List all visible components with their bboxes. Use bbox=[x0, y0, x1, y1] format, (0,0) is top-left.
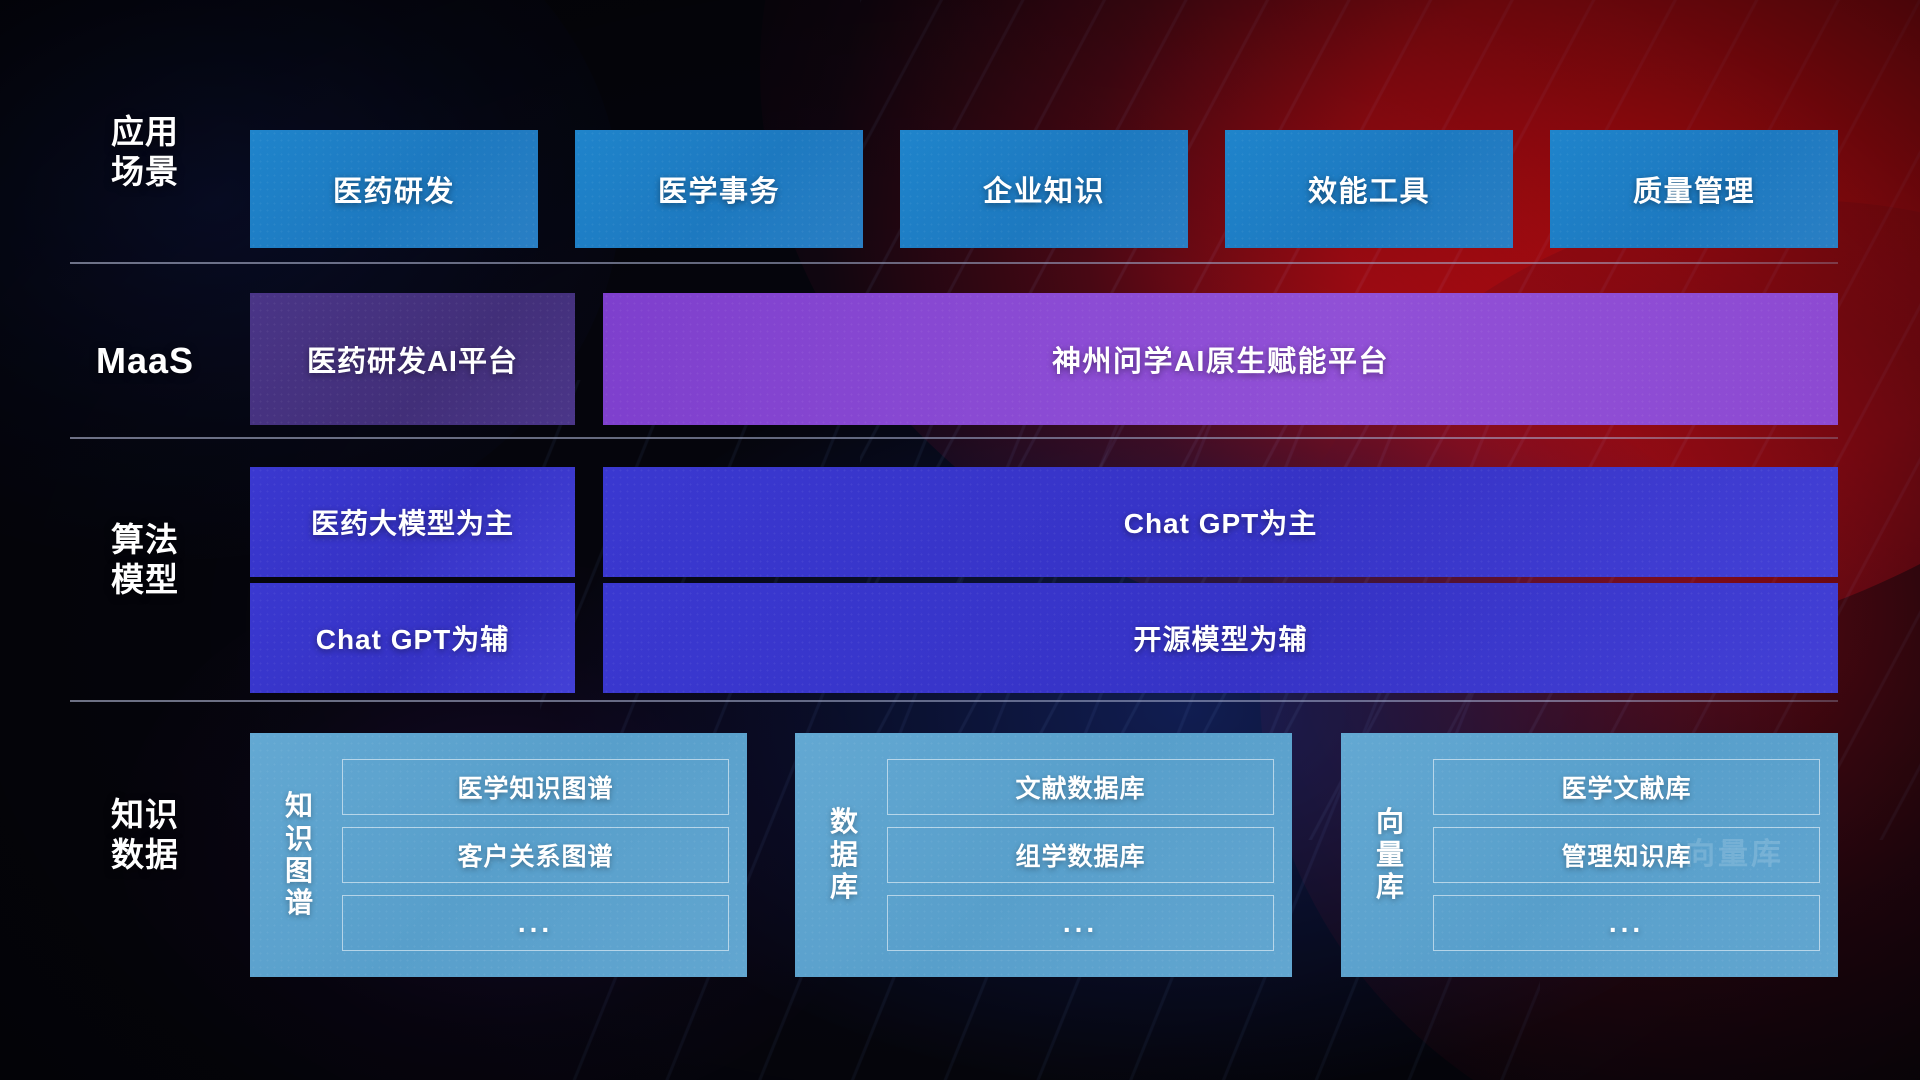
architecture-diagram: 应用 场景 医药研发 医学事务 企业知识 效能工具 质量管理 MaaS 医药研发… bbox=[0, 0, 1920, 1080]
knowledge-item[interactable]: 医学知识图谱 bbox=[342, 759, 729, 815]
maas-box-label: 神州问学AI原生赋能平台 bbox=[1052, 338, 1389, 380]
knowledge-item-more[interactable]: ... bbox=[887, 895, 1274, 951]
knowledge-item-list: 医学文献库 管理知识库 ... bbox=[1421, 759, 1820, 951]
knowledge-item[interactable]: 管理知识库 bbox=[1433, 827, 1820, 883]
row-label-text: MaaS bbox=[70, 339, 220, 383]
knowledge-item[interactable]: 文献数据库 bbox=[887, 759, 1274, 815]
app-box-label: 效能工具 bbox=[1308, 168, 1430, 210]
row-label-line-2: 场景 bbox=[70, 152, 220, 192]
algo-box-opensource-secondary[interactable]: 开源模型为辅 bbox=[603, 583, 1838, 693]
algo-box-label: 开源模型为辅 bbox=[1133, 618, 1307, 658]
row-label-line-2: 模型 bbox=[70, 560, 220, 600]
knowledge-group-vertical-label: 数据库 bbox=[813, 806, 875, 903]
knowledge-item[interactable]: 客户关系图谱 bbox=[342, 827, 729, 883]
app-box-label: 质量管理 bbox=[1633, 168, 1755, 210]
app-box-label: 医学事务 bbox=[658, 168, 780, 210]
algo-box-chatgpt-primary[interactable]: Chat GPT为主 bbox=[603, 467, 1838, 577]
algo-box-pharma-llm-primary[interactable]: 医药大模型为主 bbox=[250, 467, 575, 577]
divider-2 bbox=[70, 437, 1838, 439]
app-box-efficiency-tools[interactable]: 效能工具 bbox=[1225, 130, 1513, 248]
maas-box-drug-rd-ai-platform[interactable]: 医药研发AI平台 bbox=[250, 293, 575, 425]
row-label-line-1: 应用 bbox=[70, 112, 220, 152]
knowledge-item-list: 文献数据库 组学数据库 ... bbox=[875, 759, 1274, 951]
knowledge-item[interactable]: 医学文献库 bbox=[1433, 759, 1820, 815]
row-label-line-1: 知识 bbox=[70, 795, 220, 835]
app-box-enterprise-knowledge[interactable]: 企业知识 bbox=[900, 130, 1188, 248]
knowledge-item[interactable]: 组学数据库 bbox=[887, 827, 1274, 883]
row-label-maas: MaaS bbox=[70, 339, 220, 383]
knowledge-group-vertical-label: 知识图谱 bbox=[268, 790, 330, 920]
knowledge-group-knowledge-graph[interactable]: 知识图谱 医学知识图谱 客户关系图谱 ... bbox=[250, 733, 747, 977]
app-box-quality-management[interactable]: 质量管理 bbox=[1550, 130, 1838, 248]
algo-box-chatgpt-secondary[interactable]: Chat GPT为辅 bbox=[250, 583, 575, 693]
knowledge-group-vector-db[interactable]: 向量库 向量库 医学文献库 管理知识库 ... bbox=[1341, 733, 1838, 977]
row-label-knowledge-data: 知识 数据 bbox=[70, 795, 220, 876]
app-box-drug-rd[interactable]: 医药研发 bbox=[250, 130, 538, 248]
algo-box-label: Chat GPT为主 bbox=[1124, 502, 1318, 542]
knowledge-group-vertical-label: 向量库 bbox=[1359, 806, 1421, 903]
maas-box-shenzhou-wenxue-platform[interactable]: 神州问学AI原生赋能平台 bbox=[603, 293, 1838, 425]
knowledge-group-database[interactable]: 数据库 文献数据库 组学数据库 ... bbox=[795, 733, 1292, 977]
app-box-label: 医药研发 bbox=[333, 168, 455, 210]
algo-box-label: Chat GPT为辅 bbox=[316, 618, 510, 658]
app-box-label: 企业知识 bbox=[983, 168, 1105, 210]
app-box-medical-affairs[interactable]: 医学事务 bbox=[575, 130, 863, 248]
divider-1 bbox=[70, 262, 1838, 264]
row-label-line-1: 算法 bbox=[70, 520, 220, 560]
knowledge-item-more[interactable]: ... bbox=[342, 895, 729, 951]
maas-box-label: 医药研发AI平台 bbox=[307, 338, 518, 380]
algo-box-label: 医药大模型为主 bbox=[311, 502, 514, 542]
row-label-line-2: 数据 bbox=[70, 835, 220, 875]
divider-3 bbox=[70, 700, 1838, 702]
row-label-algorithm-models: 算法 模型 bbox=[70, 520, 220, 601]
row-label-application-scenarios: 应用 场景 bbox=[70, 112, 220, 193]
knowledge-item-more[interactable]: ... bbox=[1433, 895, 1820, 951]
knowledge-item-list: 医学知识图谱 客户关系图谱 ... bbox=[330, 759, 729, 951]
